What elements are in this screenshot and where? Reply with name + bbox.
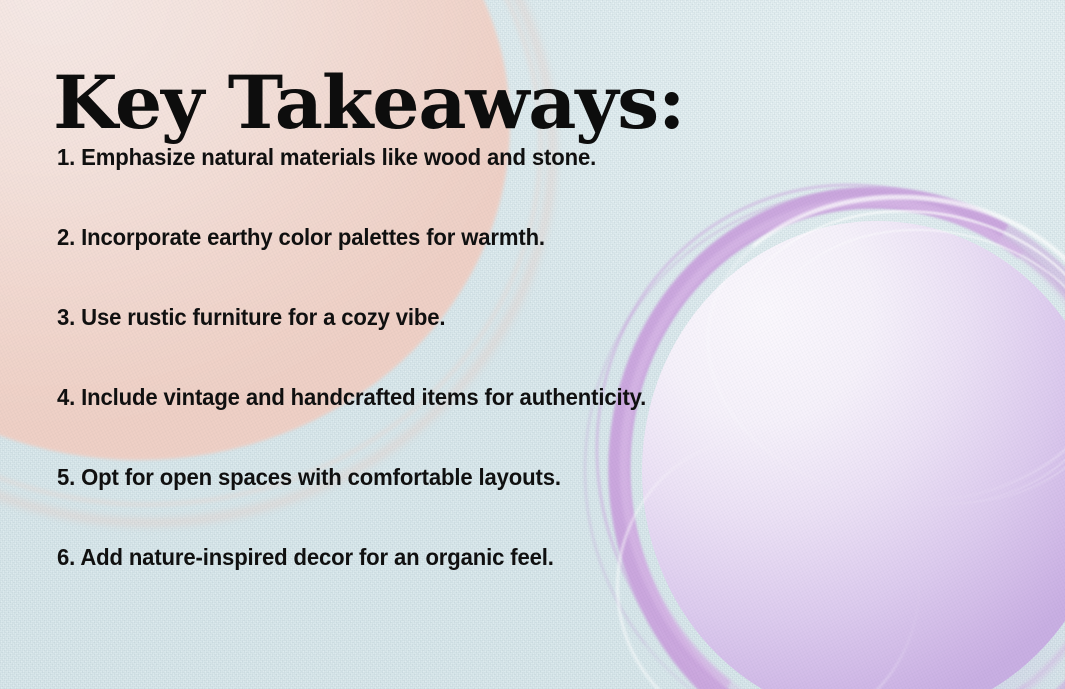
list-item: 3. Use rustic furniture for a cozy vibe. bbox=[57, 306, 986, 386]
slide-canvas: Key Takeaways: 1. Emphasize natural mate… bbox=[0, 0, 1065, 689]
content-layer: Key Takeaways: 1. Emphasize natural mate… bbox=[0, 0, 1065, 689]
takeaways-list: 1. Emphasize natural materials like wood… bbox=[57, 146, 1045, 626]
list-item: 6. Add nature-inspired decor for an orga… bbox=[57, 546, 986, 626]
list-item: 5. Opt for open spaces with comfortable … bbox=[57, 466, 986, 546]
list-item: 4. Include vintage and handcrafted items… bbox=[57, 386, 986, 466]
page-title: Key Takeaways: bbox=[53, 65, 684, 142]
list-item: 2. Incorporate earthy color palettes for… bbox=[57, 226, 986, 306]
list-item: 1. Emphasize natural materials like wood… bbox=[57, 146, 986, 226]
